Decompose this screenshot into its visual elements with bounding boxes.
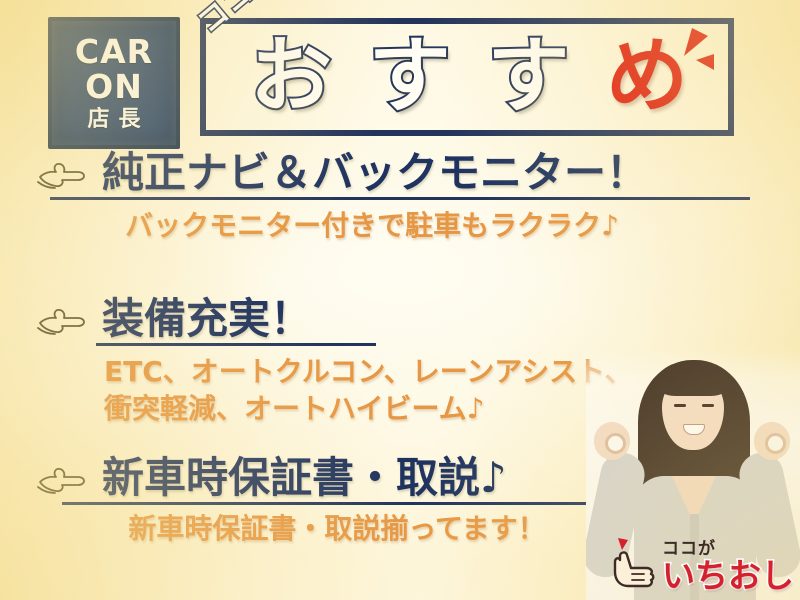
feature-2-head: 装備充実！ xyxy=(34,296,770,341)
badge-text-group: ココが いちおし xyxy=(662,541,794,594)
feature-1-head: 純正ナビ＆バックモニター！ xyxy=(34,150,770,195)
stamp-line-on: ON xyxy=(85,70,143,103)
pointing-up-hand-icon xyxy=(606,536,658,594)
model-hand-ok-left xyxy=(594,422,630,460)
feature-3-underline xyxy=(62,502,662,505)
model-eye-left xyxy=(674,404,686,407)
stamp-line-car: CAR xyxy=(75,35,153,68)
feature-block-1: 純正ナビ＆バックモニター！ バックモニター付きで駐車もラクラク♪ xyxy=(34,150,770,245)
stamp-line-tencho: 店長 xyxy=(78,109,149,131)
feature-1-underline xyxy=(50,197,750,200)
feature-1-subtitle: バックモニター付きで駐車もラクラク♪ xyxy=(34,208,770,244)
pointing-hand-icon xyxy=(34,299,90,339)
ichioshi-badge: ココが いちおし xyxy=(606,536,794,594)
model-hand-ok-right xyxy=(754,422,790,460)
headline-box xyxy=(200,18,734,136)
model-fringe xyxy=(656,362,730,396)
car-on-stamp-logo: CAR ON 店長 xyxy=(48,17,180,149)
model-eye-right xyxy=(702,404,714,407)
badge-big-text: いちおし xyxy=(662,559,794,592)
promo-poster: CAR ON 店長 お す す め ココが 純正ナビ＆バックモニター！ バックモ… xyxy=(0,0,800,600)
pointing-hand-icon xyxy=(34,458,90,498)
feature-2-underline xyxy=(96,343,376,346)
feature-3-title: 新車時保証書・取説♪ xyxy=(102,455,507,500)
pointing-hand-icon xyxy=(34,153,90,193)
feature-2-title: 装備充実！ xyxy=(102,296,312,341)
feature-1-title: 純正ナビ＆バックモニター！ xyxy=(102,150,648,195)
